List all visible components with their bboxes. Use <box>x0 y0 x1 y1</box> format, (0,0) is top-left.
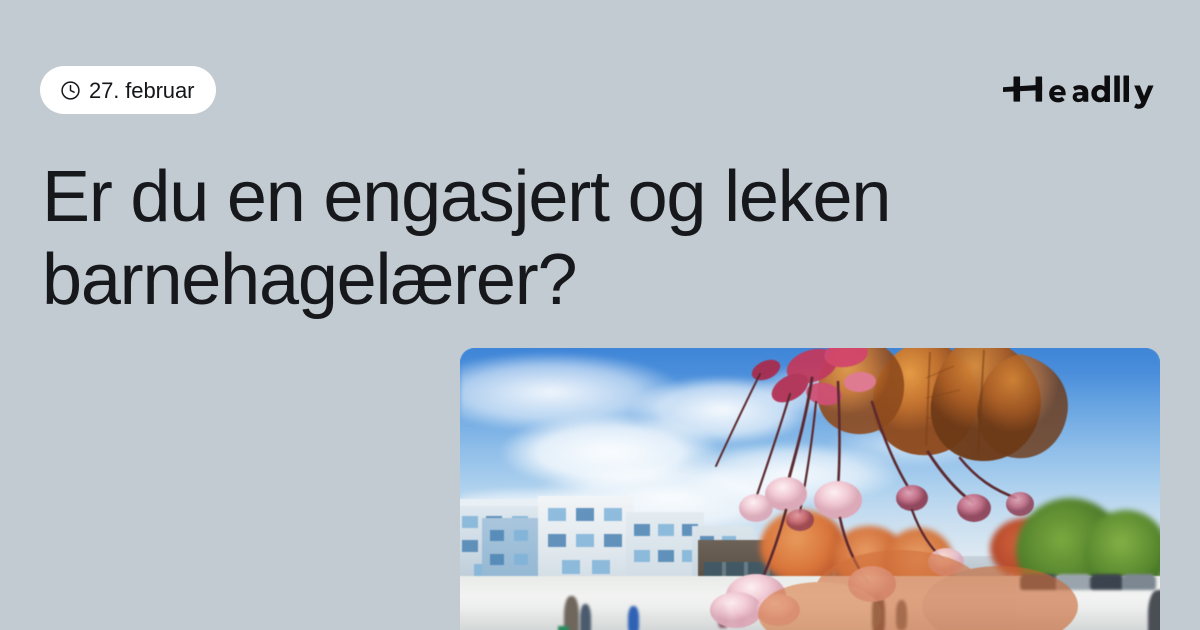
share-card: 27. februar <box>0 0 1200 630</box>
photo-blossom-branch <box>460 348 1160 630</box>
headly-logo[interactable] <box>1003 64 1161 112</box>
clock-icon <box>60 80 81 101</box>
headline: Er du en engasjert og leken barnehagelær… <box>42 156 1062 322</box>
date-label: 27. februar <box>89 80 194 102</box>
headline-line-1: Er du en engasjert og leken <box>42 156 1062 239</box>
headly-wordmark-icon <box>1003 67 1161 109</box>
date-badge: 27. februar <box>40 66 216 114</box>
headline-line-2: barnehagelærer? <box>42 239 1062 322</box>
hero-photo <box>460 348 1160 630</box>
